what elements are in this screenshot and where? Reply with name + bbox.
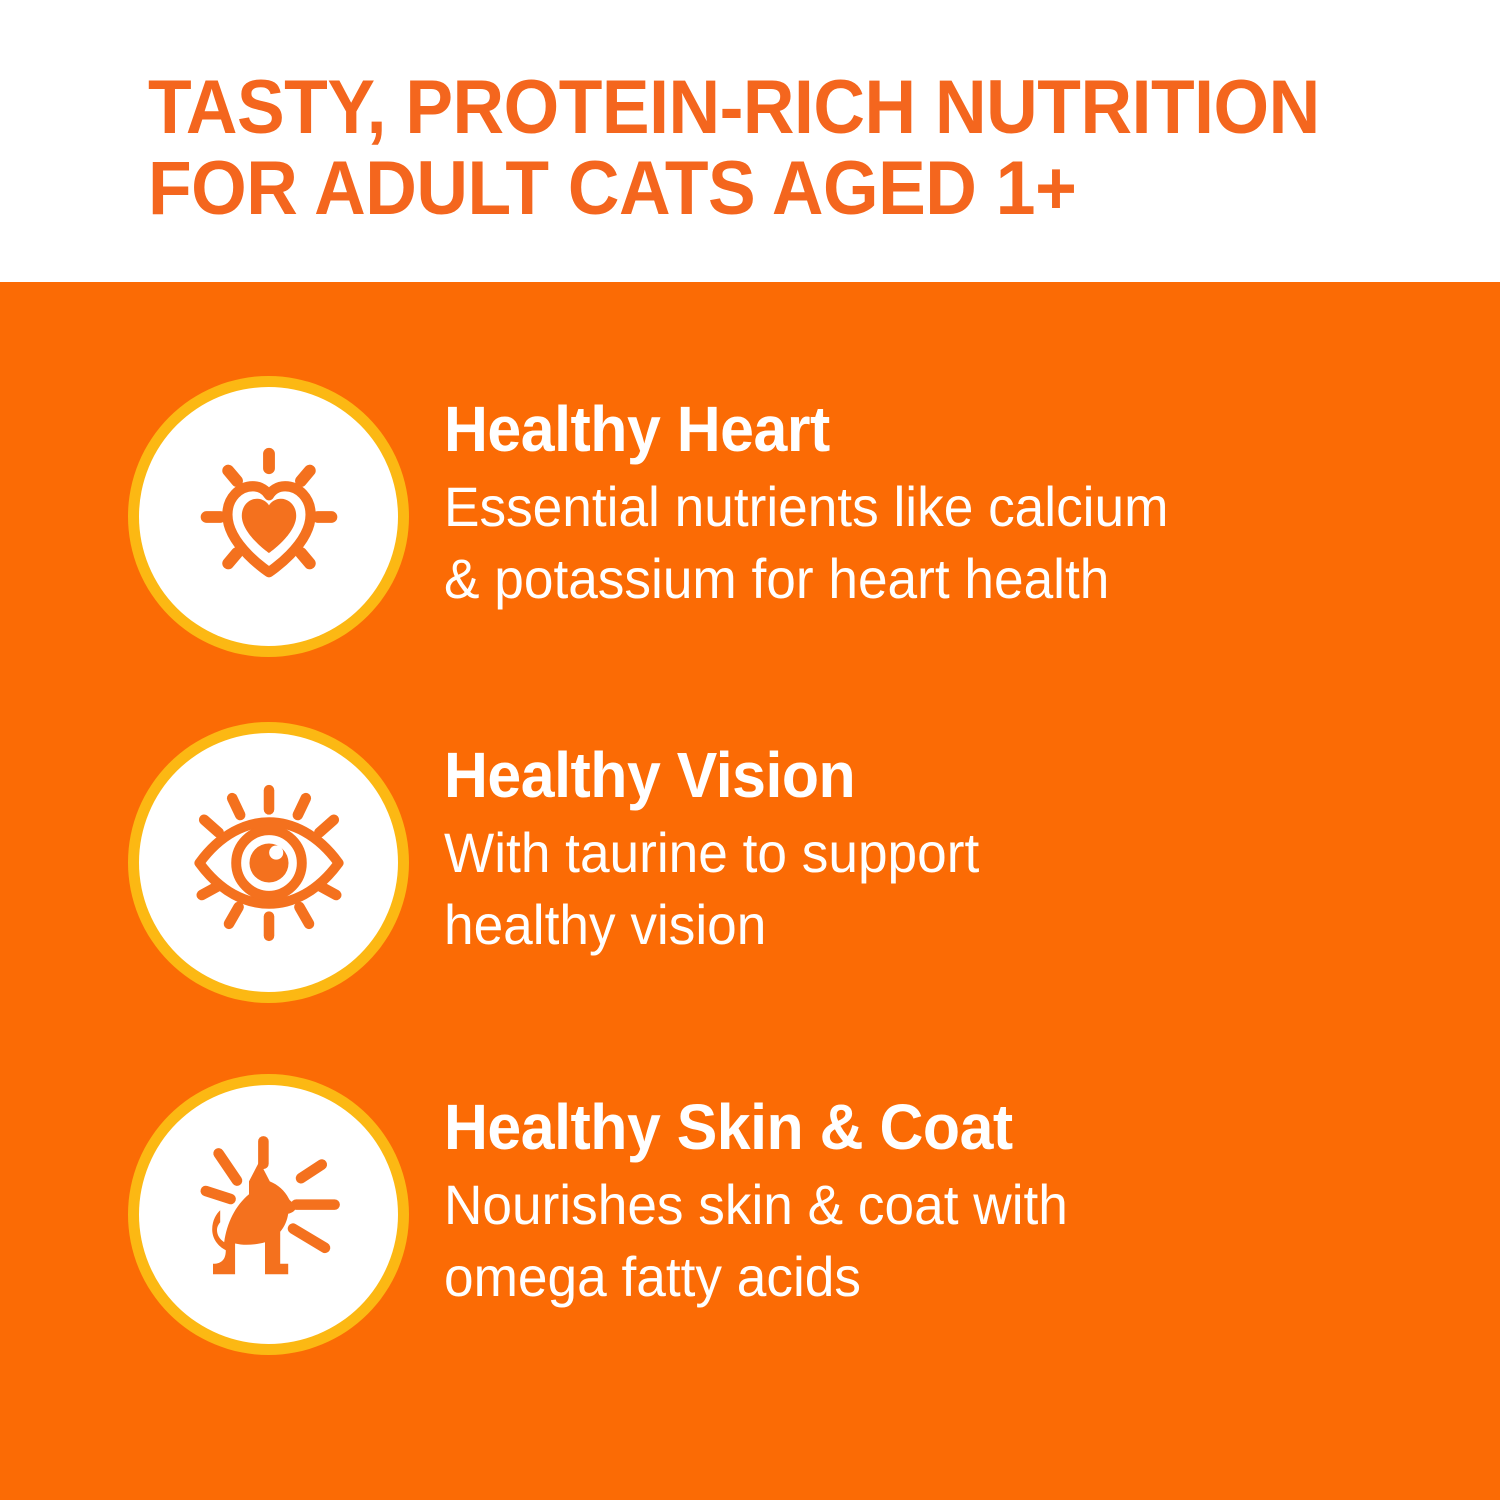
benefit-copy: Healthy Skin & Coat Nourishes skin & coa…: [444, 1085, 1374, 1312]
benefit-icon-badge: [139, 1085, 398, 1344]
benefit-item-healthy-skin-and-coat: Healthy Skin & Coat Nourishes skin & coa…: [0, 1085, 1500, 1385]
benefit-item-healthy-vision: Healthy Vision With taurine to support h…: [0, 733, 1500, 1033]
benefit-item-healthy-heart: Healthy Heart Essential nutrients like c…: [0, 387, 1500, 687]
benefit-title: Healthy Heart: [444, 397, 1328, 461]
product-benefits-poster: TASTY, PROTEIN-RICH NUTRITION FOR ADULT …: [0, 0, 1500, 1500]
benefits-panel: Healthy Heart Essential nutrients like c…: [0, 282, 1500, 1500]
page-title: TASTY, PROTEIN-RICH NUTRITION FOR ADULT …: [148, 68, 1351, 229]
benefit-copy: Healthy Heart Essential nutrients like c…: [444, 387, 1374, 614]
heart-rays-icon: [189, 437, 349, 597]
benefit-description: Essential nutrients like calcium & potas…: [444, 471, 1328, 614]
eye-rays-icon: [189, 783, 349, 943]
benefit-icon-badge: [139, 387, 398, 646]
benefit-description: With taurine to support healthy vision: [444, 817, 1328, 960]
benefit-description: Nourishes skin & coat with omega fatty a…: [444, 1169, 1328, 1312]
benefit-icon-badge: [139, 733, 398, 992]
benefit-title: Healthy Vision: [444, 743, 1328, 807]
cat-rays-icon: [189, 1135, 349, 1295]
benefit-copy: Healthy Vision With taurine to support h…: [444, 733, 1374, 960]
benefits-list: Healthy Heart Essential nutrients like c…: [0, 282, 1500, 1500]
benefit-title: Healthy Skin & Coat: [444, 1095, 1328, 1159]
header-band: TASTY, PROTEIN-RICH NUTRITION FOR ADULT …: [0, 0, 1500, 282]
